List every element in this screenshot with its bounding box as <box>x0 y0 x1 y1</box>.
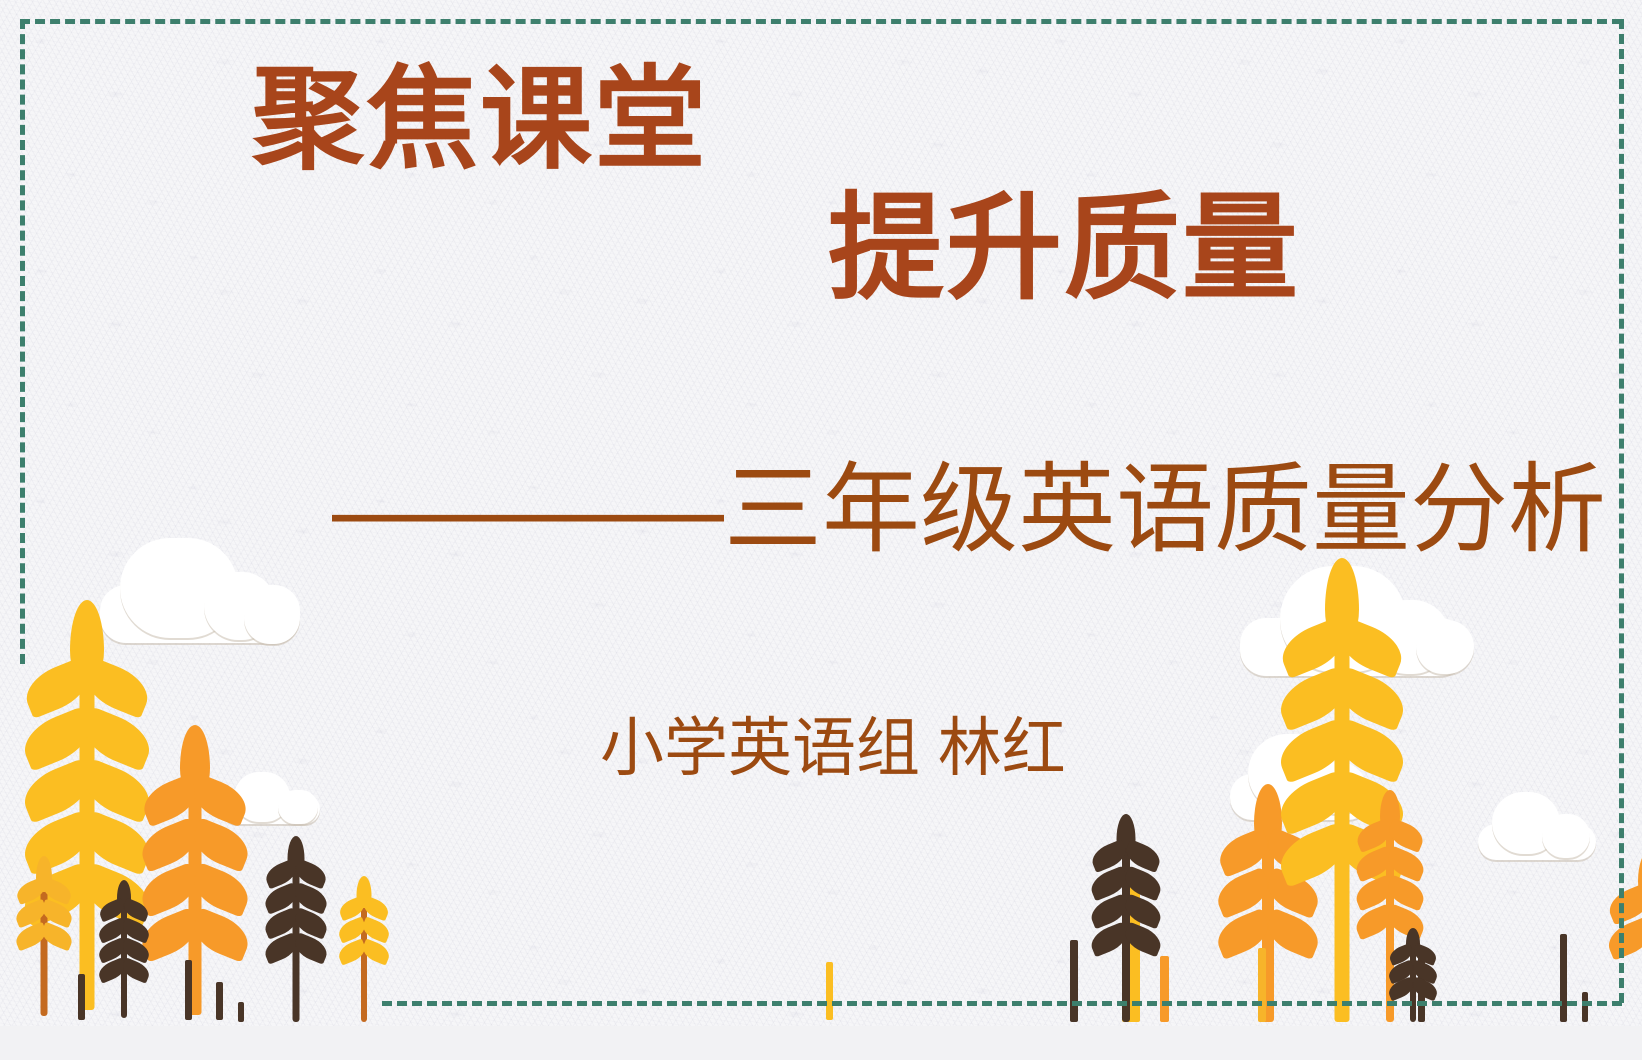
bar-brown <box>216 982 223 1020</box>
frame-border-bottom <box>382 1001 1622 1006</box>
frame-border-right <box>1619 19 1624 1003</box>
wheat-yellow-small-left <box>14 856 74 1016</box>
wheat-brown-tall-center <box>262 836 330 1022</box>
frame-border-top <box>20 19 1622 24</box>
wheat-brown-small-right <box>1386 928 1440 1022</box>
wheat-brown-mini-center <box>1088 814 1164 1022</box>
presentation-slide: 聚焦课堂 提升质量 ————三年级英语质量分析 小学英语组 林红 <box>0 0 1642 1060</box>
cloud-far-right <box>1478 790 1608 862</box>
bar-yellow <box>826 962 833 1020</box>
subtitle: ————三年级英语质量分析 <box>332 460 1606 558</box>
bar-brown <box>1582 992 1588 1022</box>
bar-brown <box>1560 934 1567 1022</box>
title-line-1: 聚焦课堂 <box>252 64 708 176</box>
bar-brown <box>238 1002 244 1022</box>
wheat-brown-small-left <box>96 880 152 1018</box>
frame-border-left <box>20 19 25 664</box>
bar-yellow <box>1258 948 1266 1022</box>
bottom-band <box>0 1026 1642 1060</box>
bar-brown <box>1070 940 1078 1022</box>
wheat-orange-mid-left <box>140 725 250 1015</box>
bar-brown <box>78 974 85 1020</box>
byline-author: 小学英语组 林红 <box>600 716 1066 780</box>
bar-brown <box>185 960 192 1020</box>
wheat-orange-edge-right <box>1606 850 1642 1022</box>
title-line-2: 提升质量 <box>828 190 1300 306</box>
